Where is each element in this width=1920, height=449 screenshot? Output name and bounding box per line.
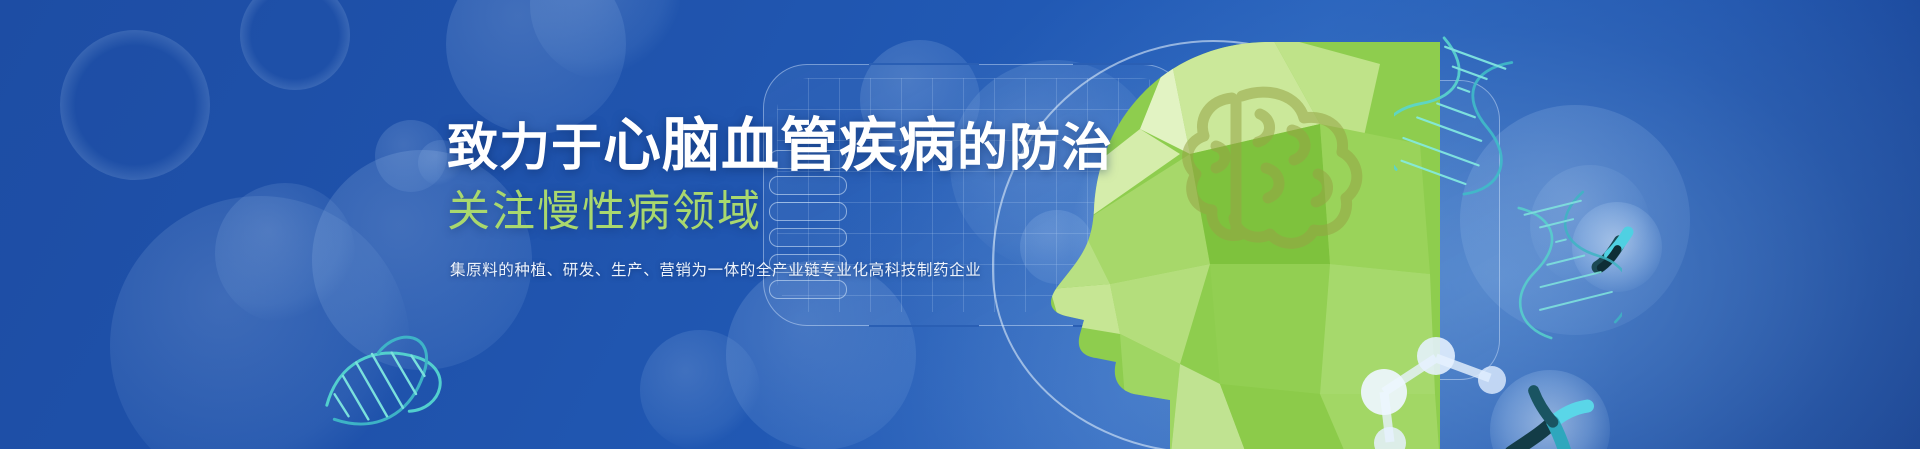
hero-banner: 致力于心脑血管疾病的防治 关注慢性病领域 集原料的种植、研发、生产、营销为一体的… bbox=[0, 0, 1920, 449]
headline-emphasis: 心脑血管疾病 bbox=[603, 113, 957, 178]
headline-lead: 致力于 bbox=[447, 119, 603, 176]
headline-tail: 的防治 bbox=[957, 119, 1113, 176]
page-tagline: 集原料的种植、研发、生产、营销为一体的全产业链专业化高科技制药企业 bbox=[450, 258, 981, 280]
page-title: 致力于心脑血管疾病的防治 bbox=[447, 98, 1113, 182]
hero-copy: 致力于心脑血管疾病的防治 关注慢性病领域 集原料的种植、研发、生产、营销为一体的… bbox=[0, 0, 1920, 449]
page-subtitle: 关注慢性病领域 bbox=[447, 177, 762, 239]
